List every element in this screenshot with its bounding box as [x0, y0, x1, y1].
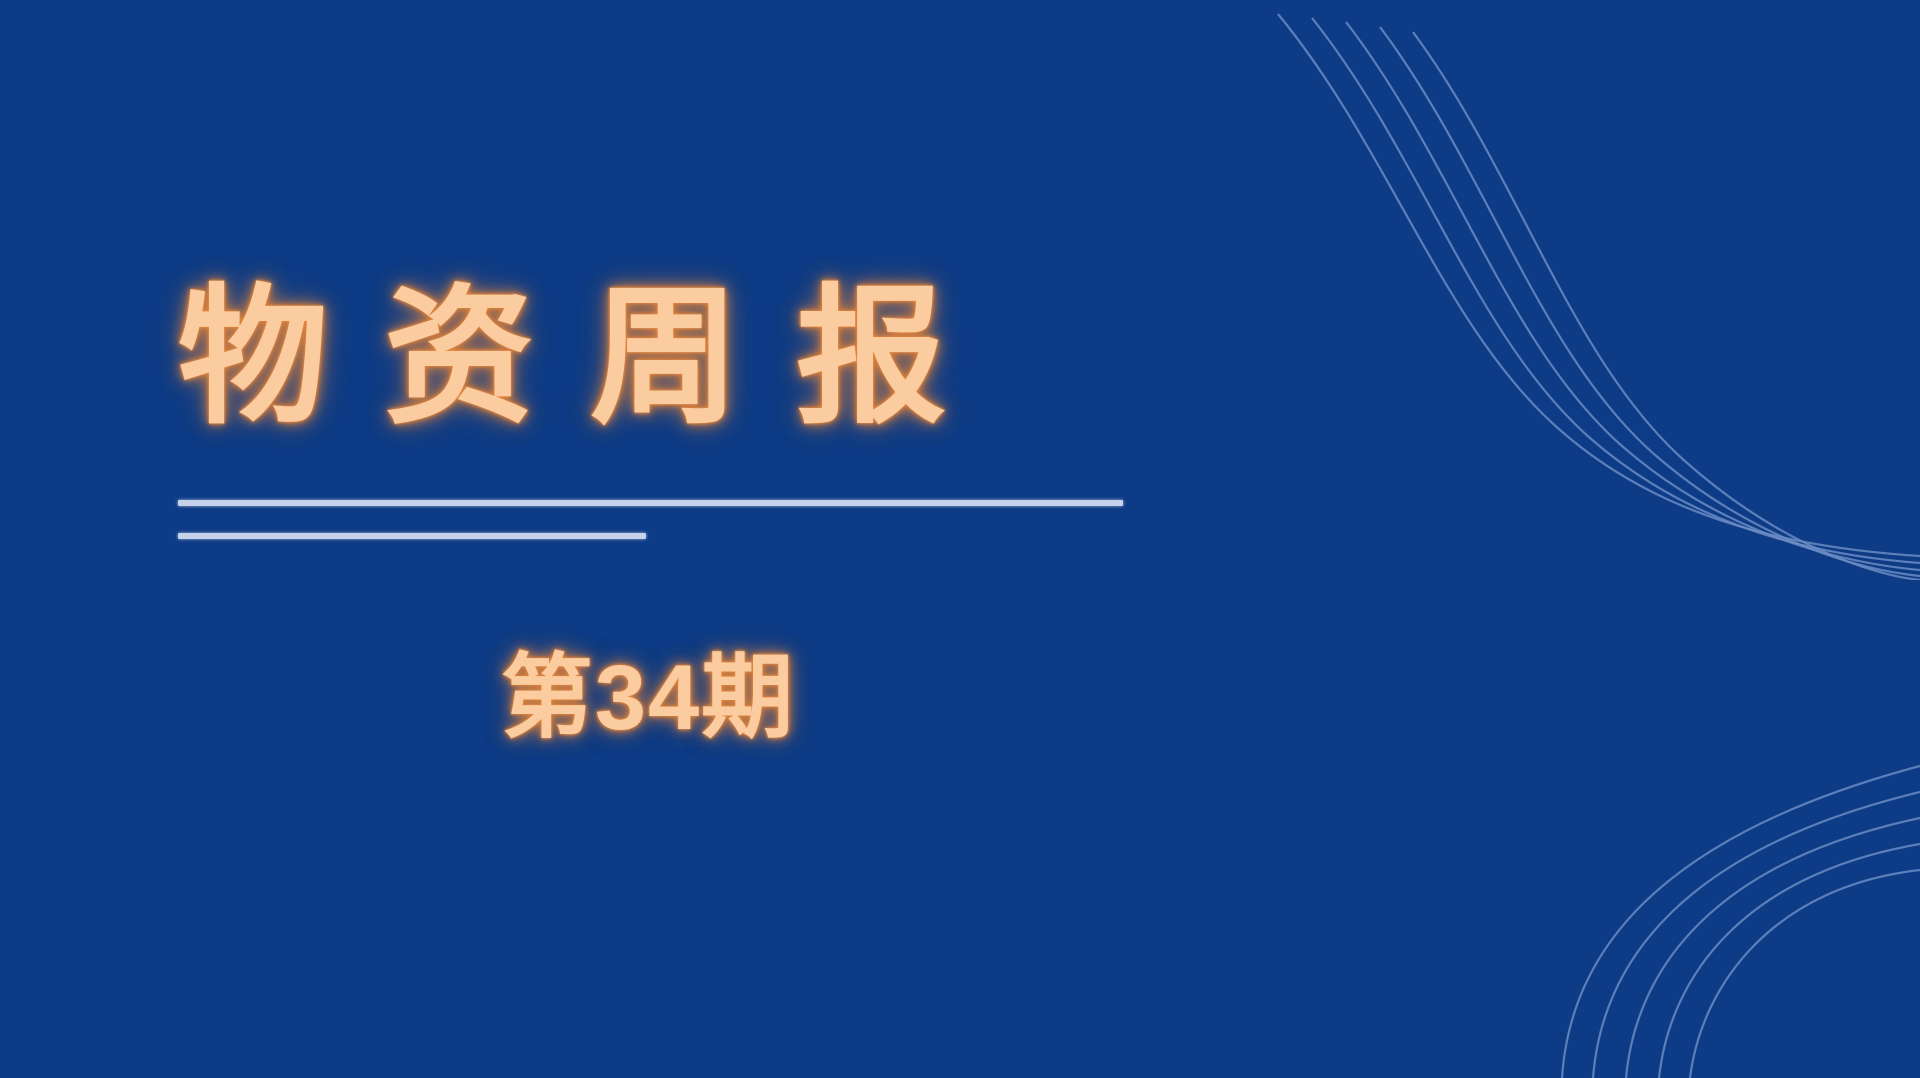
swoosh-line-4	[1380, 27, 1920, 576]
title-block: 物资周报	[178, 282, 1278, 432]
swoosh-line-2	[1312, 18, 1920, 563]
top-right-swoosh-svg	[1270, 0, 1920, 580]
arc-line-2	[1593, 792, 1920, 1078]
swoosh-line-1	[1278, 14, 1920, 556]
bottom-right-arc-svg	[1270, 588, 1920, 1078]
subtitle-block: 第34期	[178, 648, 1118, 749]
swoosh-line-5	[1413, 32, 1920, 580]
title-underline-short	[178, 533, 646, 539]
swoosh-line-3	[1346, 22, 1920, 570]
bottom-right-arc-lines	[1270, 588, 1920, 1078]
arc-line-3	[1626, 818, 1920, 1078]
arc-line-5	[1690, 870, 1920, 1078]
title-underlines	[178, 500, 1278, 539]
arc-line-4	[1659, 844, 1920, 1078]
arc-line-1	[1562, 766, 1920, 1078]
page-title: 物资周报	[178, 282, 1278, 432]
title-underline-long	[178, 500, 1123, 506]
top-right-swoosh-lines	[1270, 0, 1920, 580]
cover-slide: 物资周报 第34期	[0, 0, 1920, 1078]
issue-subtitle: 第34期	[501, 648, 795, 749]
